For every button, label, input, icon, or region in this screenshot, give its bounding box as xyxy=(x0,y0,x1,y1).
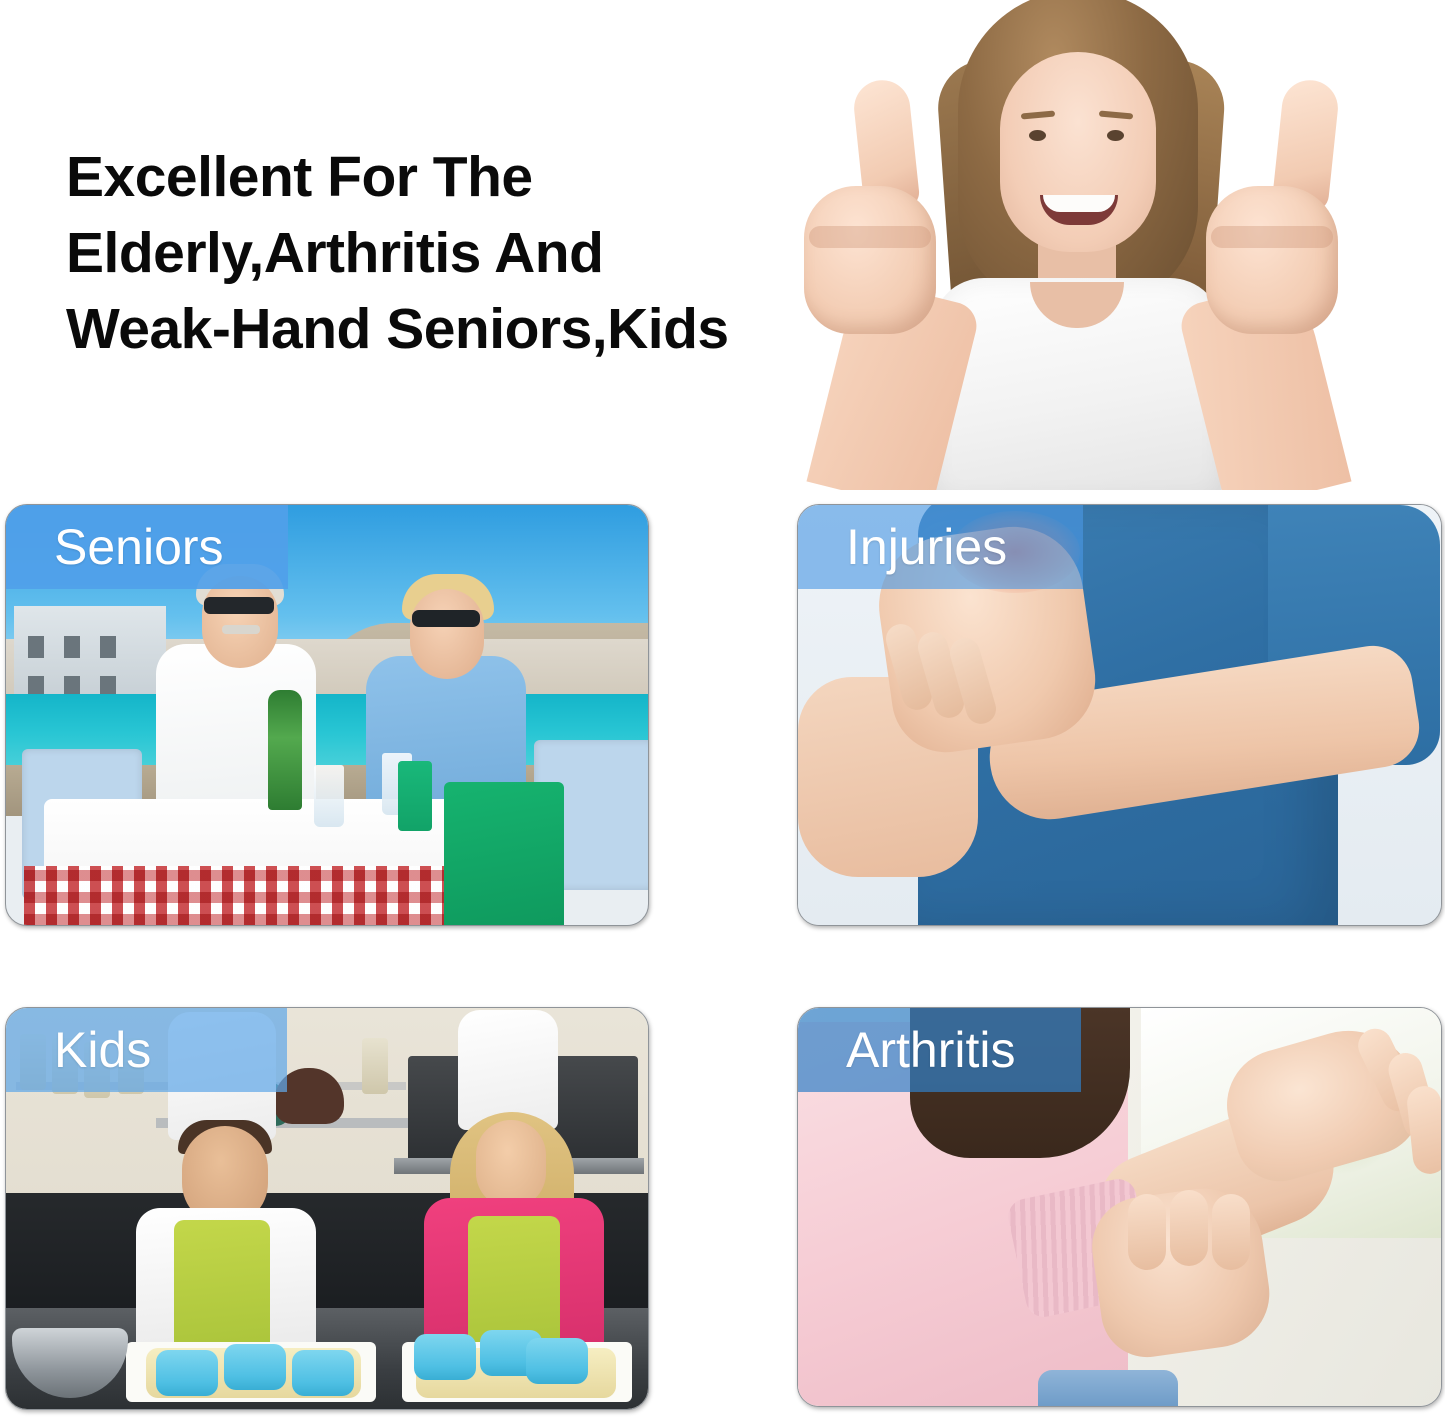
use-case-card-seniors[interactable]: Seniors xyxy=(5,504,649,926)
use-case-card-arthritis[interactable]: Arthritis xyxy=(797,1007,1442,1407)
use-case-card-injuries[interactable]: Injuries xyxy=(797,504,1442,926)
teeth xyxy=(1043,195,1115,212)
eye-right xyxy=(1107,130,1124,141)
senior-man-head xyxy=(202,576,278,668)
use-case-card-kids[interactable]: Kids xyxy=(5,1007,649,1410)
card-label-arthritis: Arthritis xyxy=(846,1025,1015,1075)
fist-right xyxy=(1206,186,1338,334)
card-label-kids: Kids xyxy=(54,1025,151,1075)
green-beer-bottle xyxy=(268,690,302,810)
green-can xyxy=(398,761,432,831)
finger xyxy=(1170,1190,1208,1266)
blue-cookie-cutter xyxy=(292,1350,354,1396)
page-headline: Excellent For The Elderly,Arthritis And … xyxy=(66,140,796,367)
fist-left xyxy=(804,186,936,334)
green-apron-boy xyxy=(174,1220,270,1360)
blue-cookie-cutter xyxy=(414,1334,476,1380)
senior-woman-head xyxy=(410,589,484,679)
card-label-banner-arthritis: Arthritis xyxy=(798,1008,1081,1092)
blue-cookie-cutter xyxy=(526,1338,588,1384)
moustache xyxy=(222,625,260,634)
card-label-banner-seniors: Seniors xyxy=(6,505,288,589)
drinking-glass xyxy=(314,765,344,827)
girl-thumbs-up-photo xyxy=(700,0,1445,490)
hero-section: Excellent For The Elderly,Arthritis And … xyxy=(0,0,1445,500)
finger xyxy=(1212,1194,1250,1270)
card-label-banner-kids: Kids xyxy=(6,1008,287,1092)
card-label-injuries: Injuries xyxy=(846,522,1007,572)
spice-jar xyxy=(362,1038,388,1094)
knuckles-right xyxy=(1211,226,1333,248)
finger xyxy=(1128,1194,1166,1270)
green-tote-bag xyxy=(444,782,564,925)
girl-face xyxy=(476,1120,546,1208)
knuckles-left xyxy=(809,226,931,248)
card-label-seniors: Seniors xyxy=(54,522,224,572)
window xyxy=(100,636,116,658)
window xyxy=(64,636,80,658)
blue-jeans xyxy=(1038,1370,1178,1406)
blue-cookie-cutter xyxy=(156,1350,218,1396)
eye-left xyxy=(1029,130,1046,141)
sunglasses-man xyxy=(204,597,274,614)
sunglasses-woman xyxy=(412,610,480,627)
card-label-banner-injuries: Injuries xyxy=(798,505,1083,589)
window xyxy=(28,636,44,658)
blue-cookie-cutter xyxy=(224,1344,286,1390)
